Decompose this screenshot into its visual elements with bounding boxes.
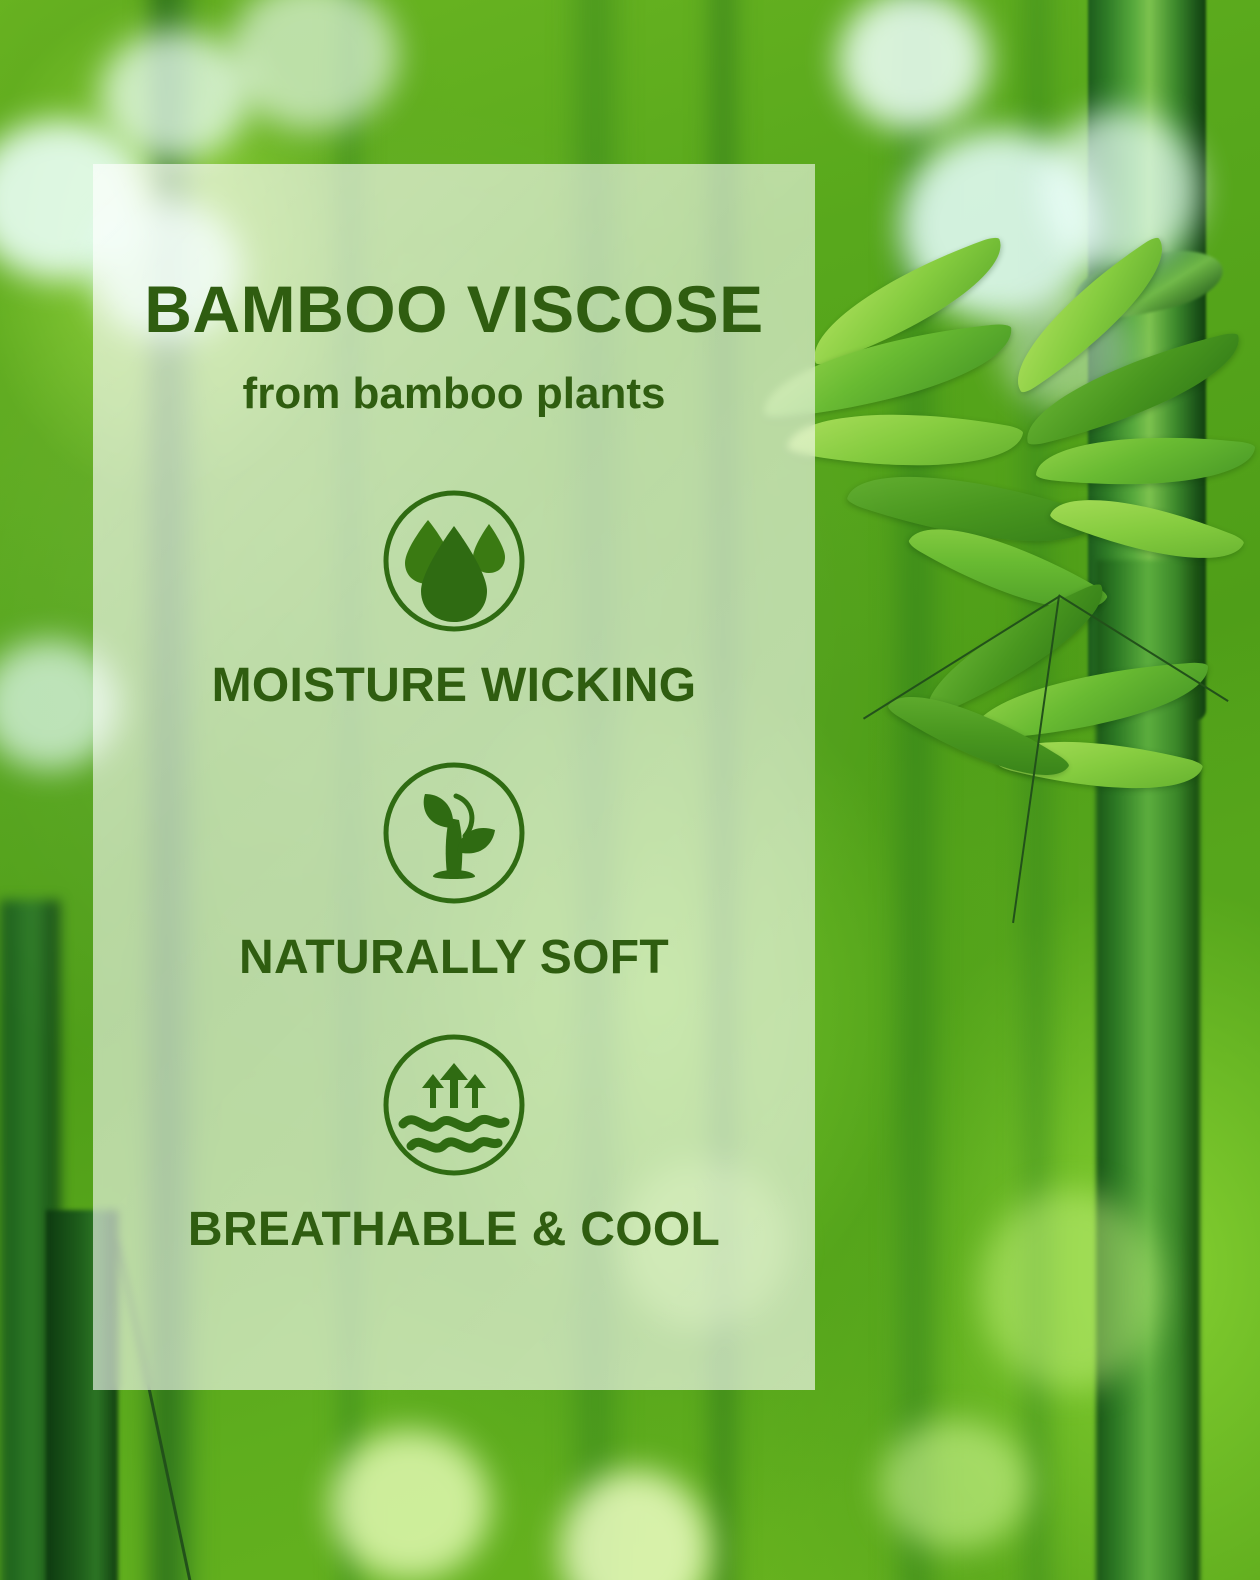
bokeh-highlight <box>330 1430 490 1580</box>
page-subtitle: from bamboo plants <box>243 372 666 416</box>
breathable-airflow-icon <box>381 1032 527 1178</box>
bokeh-highlight <box>980 1190 1160 1390</box>
feature-list: MOISTURE WICKING NATURALLY SOFT <box>93 488 815 1254</box>
bokeh-highlight <box>880 1420 1030 1550</box>
feature-item-naturally-soft: NATURALLY SOFT <box>93 760 815 982</box>
water-droplets-icon <box>381 488 527 634</box>
seedling-sprout-icon <box>381 760 527 906</box>
feature-item-breathable-cool: BREATHABLE & COOL <box>93 1032 815 1254</box>
feature-label: BREATHABLE & COOL <box>188 1206 720 1254</box>
feature-label: MOISTURE WICKING <box>212 662 697 710</box>
feature-label: NATURALLY SOFT <box>239 934 669 982</box>
content-panel: BAMBOO VISCOSE from bamboo plants MOISTU… <box>93 164 815 1390</box>
bamboo-leaf <box>1049 468 1245 589</box>
page-title: BAMBOO VISCOSE <box>144 276 763 342</box>
bamboo-viscose-infographic: BAMBOO VISCOSE from bamboo plants MOISTU… <box>0 0 1260 1580</box>
feature-item-moisture-wicking: MOISTURE WICKING <box>93 488 815 710</box>
bamboo-leaf-cluster <box>790 240 1260 980</box>
